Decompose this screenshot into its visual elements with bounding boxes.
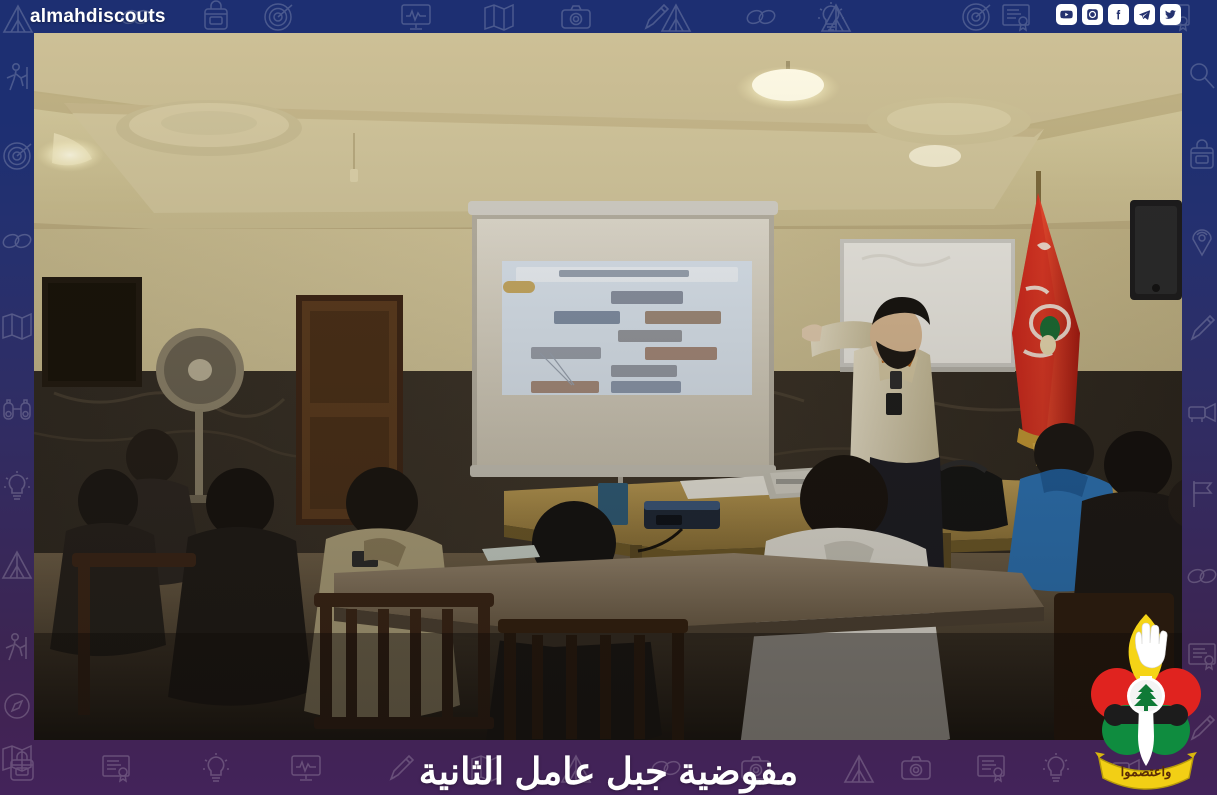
telegram-icon[interactable] xyxy=(1134,4,1155,25)
logo-banner-text: واعتصموا xyxy=(1121,764,1172,780)
twitter-icon[interactable] xyxy=(1160,4,1181,25)
facebook-icon[interactable] xyxy=(1108,4,1129,25)
social-links[interactable] xyxy=(1056,4,1181,25)
al-mahdi-scouts-emblem: واعتصموا xyxy=(1087,606,1205,791)
caption-title: مفوضية جبل عامل الثانية xyxy=(419,753,798,790)
top-bar: almahdiscouts xyxy=(0,0,1217,33)
training-session-photo xyxy=(34,33,1182,740)
poster-frame: almahdiscouts xyxy=(0,0,1217,795)
caption-bar: مفوضية جبل عامل الثانية xyxy=(0,740,1217,795)
instagram-icon[interactable] xyxy=(1082,4,1103,25)
brand-name: almahdiscouts xyxy=(30,6,166,28)
youtube-icon[interactable] xyxy=(1056,4,1077,25)
